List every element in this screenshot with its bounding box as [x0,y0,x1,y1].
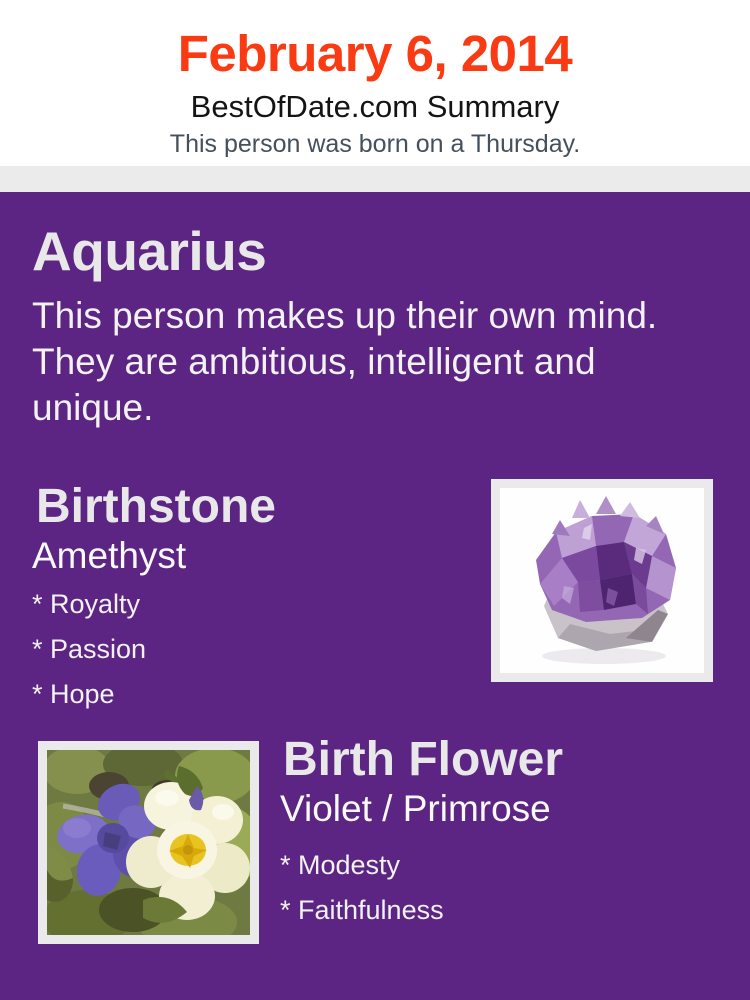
birthstone-photo-frame [491,479,713,682]
birthstone-photo [500,488,704,673]
list-item: * Modesty [280,843,700,888]
list-item: * Passion [32,627,452,672]
page-title-date: February 6, 2014 [0,23,750,85]
list-item: * Royalty [32,582,452,627]
summary-panel: Aquarius This person makes up their own … [0,192,750,1000]
best-of-date-summary-card: February 6, 2014 BestOfDate.com Summary … [0,0,750,1000]
amethyst-crystal-icon [500,488,704,673]
birth-flower-name: Violet / Primrose [280,787,551,831]
zodiac-sign-heading: Aquarius [32,220,266,282]
zodiac-description: This person makes up their own mind. The… [32,293,692,431]
birth-flower-photo-frame [38,741,259,944]
birthstone-heading: Birthstone [36,479,276,535]
header-divider [0,166,750,192]
site-summary-label: BestOfDate.com Summary [0,88,750,126]
birth-day-note: This person was born on a Thursday. [0,129,750,159]
birth-flower-heading: Birth Flower [283,732,563,788]
birthstone-name: Amethyst [32,534,186,578]
violet-primrose-flower-icon [47,750,250,935]
birth-flower-photo [47,750,250,935]
birth-flower-trait-list: * Modesty * Faithfulness [280,843,700,933]
list-item: * Hope [32,672,452,717]
birthstone-trait-list: * Royalty * Passion * Hope [32,582,452,717]
list-item: * Faithfulness [280,888,700,933]
header: February 6, 2014 BestOfDate.com Summary … [0,0,750,166]
